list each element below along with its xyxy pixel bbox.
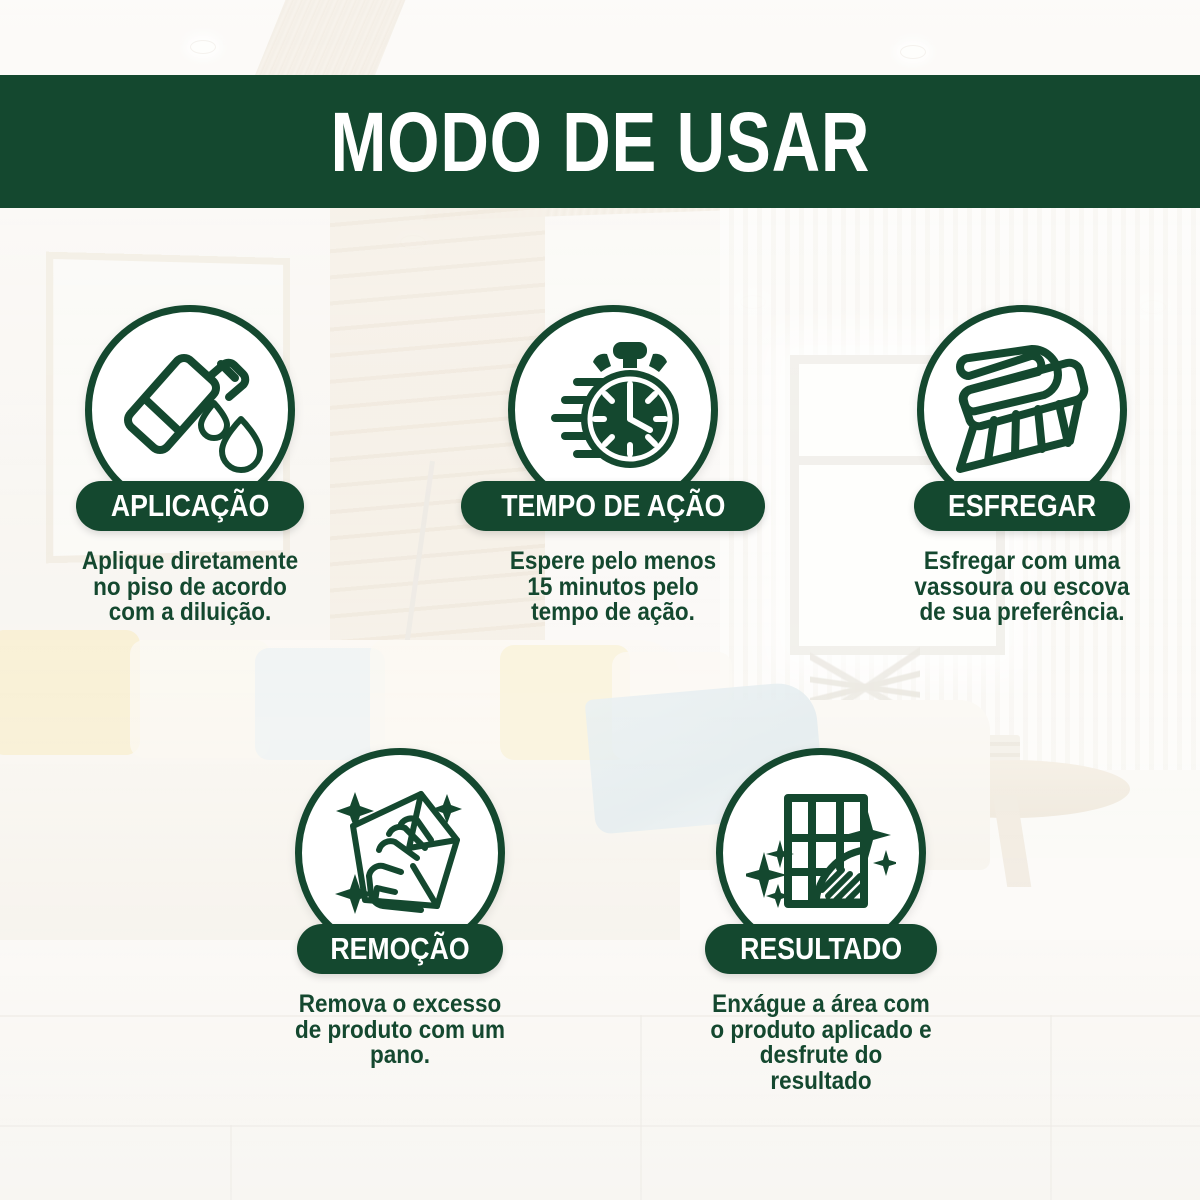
- hand-wiping-cloth-sparkle-icon: [325, 778, 475, 928]
- step-card-remocao[interactable]: REMOÇÃO Remova o excesso de produto com …: [295, 748, 505, 1069]
- step-card-resultado[interactable]: RESULTADO Enxágue a área com o produto a…: [716, 748, 926, 1094]
- step-label-pill: APLICAÇÃO: [76, 481, 304, 531]
- step-card-aplicacao[interactable]: APLICAÇÃO Aplique diretamente no piso de…: [85, 305, 295, 626]
- step-label-pill: TEMPO DE AÇÃO: [461, 481, 766, 531]
- step-card-esfregar[interactable]: ESFREGAR Esfregar com uma vassoura ou es…: [917, 305, 1127, 626]
- page-title: MODO DE USAR: [330, 100, 870, 184]
- step-label: TEMPO DE AÇÃO: [501, 490, 725, 521]
- step-label-pill: RESULTADO: [705, 924, 937, 974]
- instruction-infographic: MODO DE USAR APLICAÇÃO Aplique diretamen…: [0, 0, 1200, 1200]
- bottle-pouring-drops-icon: [115, 335, 265, 485]
- step-label: RESULTADO: [740, 933, 902, 964]
- step-description: Enxágue a área com o produto aplicado e …: [709, 992, 934, 1094]
- step-card-tempo-de-acao[interactable]: TEMPO DE AÇÃO Espere pelo menos 15 minut…: [508, 305, 718, 626]
- step-label: ESFREGAR: [948, 490, 1096, 521]
- scrub-brush-icon: [946, 339, 1098, 481]
- step-description: Esfregar com uma vassoura ou escova de s…: [910, 549, 1135, 626]
- step-description: Remova o excesso de produto com um pano.: [288, 992, 513, 1069]
- step-description: Aplique diretamente no piso de acordo co…: [78, 549, 303, 626]
- step-label: APLICAÇÃO: [111, 490, 269, 521]
- step-label: REMOÇÃO: [330, 933, 469, 964]
- stopwatch-motion-icon: [537, 334, 689, 486]
- header-banner: MODO DE USAR: [0, 75, 1200, 208]
- clean-tiled-floor-sparkle-icon: [746, 778, 896, 928]
- step-description: Espere pelo menos 15 minutos pelo tempo …: [501, 549, 726, 626]
- step-label-pill: REMOÇÃO: [297, 924, 503, 974]
- step-label-pill: ESFREGAR: [914, 481, 1130, 531]
